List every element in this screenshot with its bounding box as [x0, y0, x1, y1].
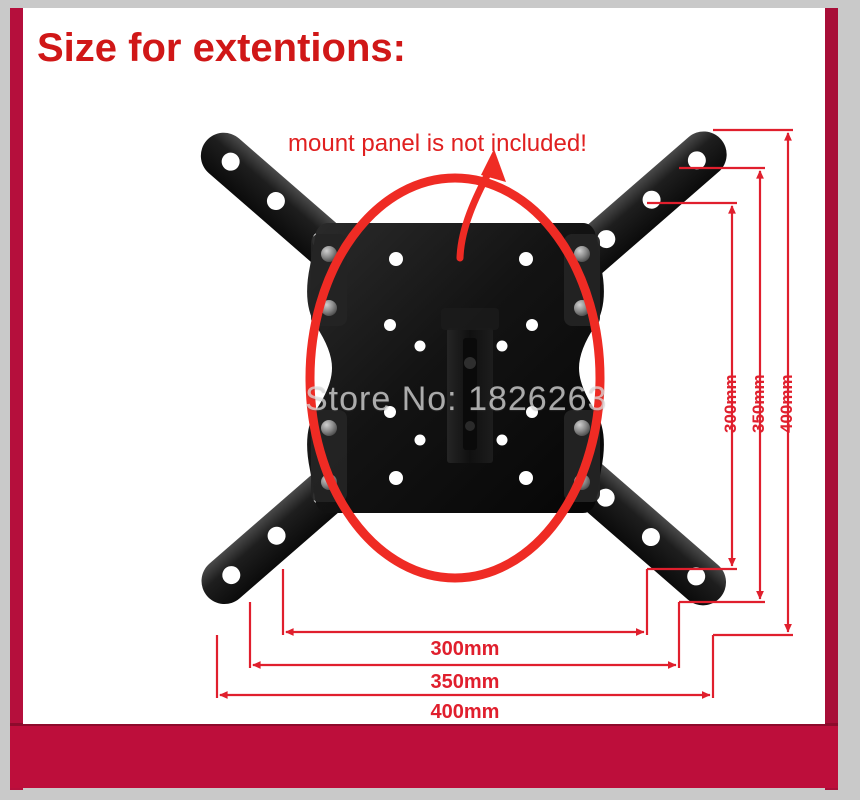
frame-band-right [838, 0, 860, 800]
frame-band-left [0, 0, 10, 800]
dimension-label-h-400: 400mm [385, 701, 545, 724]
bracket-illustration [23, 8, 825, 724]
diagram-canvas: Size for extentions: [23, 8, 825, 724]
center-rail [447, 328, 493, 463]
dimension-label-v-400: 400mm [777, 374, 797, 433]
screenshot-stage: Size for extentions: [0, 0, 860, 800]
dimension-label-v-300: 300mm [721, 374, 741, 433]
dimension-label-v-350: 350mm [749, 374, 769, 433]
center-mount-plate [307, 223, 604, 513]
accent-bar-right [825, 8, 838, 790]
frame-band-bottom [0, 788, 860, 800]
accent-bar-bottom [10, 726, 838, 788]
dimension-label-h-350: 350mm [385, 671, 545, 694]
frame-band-top [0, 0, 860, 8]
accent-bar-left [10, 8, 23, 790]
callout-label: mount panel is not included! [288, 130, 587, 158]
dimension-label-h-300: 300mm [385, 638, 545, 661]
